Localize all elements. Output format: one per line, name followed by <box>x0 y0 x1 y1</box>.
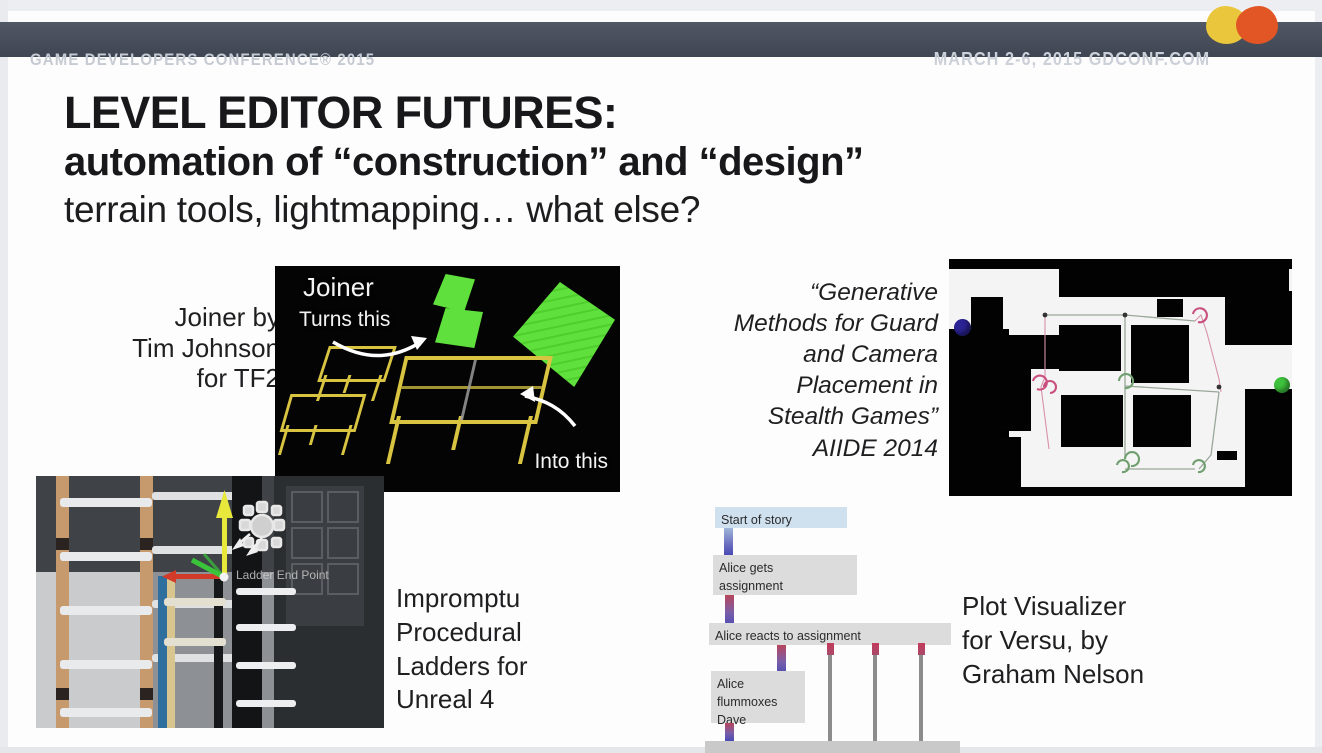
conference-name-label: GAME DEVELOPERS CONFERENCE® 2015 <box>30 50 375 70</box>
ladder-end-point-label: Ladder End Point <box>236 568 329 582</box>
player-start-dot <box>954 319 971 336</box>
caption-plot-visualizer: Plot Visualizer for Versu, by Graham Nel… <box>962 590 1242 691</box>
joiner-into-this-label: Into this <box>534 450 608 474</box>
plot-baseline <box>705 741 960 753</box>
logo-orange-blob-icon <box>1236 6 1278 44</box>
plot-node-alice-reacts: Alice reacts to assignment <box>709 623 951 645</box>
plot-node-start: Start of story <box>715 507 847 528</box>
stealth-map-screenshot <box>949 259 1292 496</box>
joiner-image-title: Joiner <box>303 272 374 303</box>
plot-thread-1 <box>828 645 832 741</box>
ladder-viewport-render <box>36 476 384 728</box>
page-title: LEVEL EDITOR FUTURES: <box>64 88 1244 138</box>
plot-connector-4 <box>725 723 734 741</box>
joiner-turns-this-label: Turns this <box>299 308 390 332</box>
caption-impromptu-ladders: Impromptu Procedural Ladders for Unreal … <box>396 582 636 717</box>
goal-dot <box>1274 377 1290 393</box>
gdc-logo <box>1204 2 1284 44</box>
unreal-ladders-screenshot: Ladder End Point <box>36 476 384 728</box>
plot-thread-cap-3 <box>918 643 925 655</box>
caption-joiner: Joiner by Tim Johnson for TF2 <box>40 302 280 394</box>
slide-bottom-edge <box>0 747 1322 753</box>
plot-thread-cap-2 <box>872 643 879 655</box>
gdc-header-bar: GAME DEVELOPERS CONFERENCE® 2015 MARCH 2… <box>0 22 1322 57</box>
plot-connector-1 <box>724 528 733 555</box>
slide-right-edge <box>1315 0 1322 753</box>
plot-thread-3 <box>919 645 923 741</box>
page-subtitle: automation of “construction” and “design… <box>64 138 1244 187</box>
conference-date-url-label: MARCH 2-6, 2015 GDCONF.COM <box>933 49 1210 70</box>
slide-left-edge <box>0 0 8 753</box>
slide-canvas: GAME DEVELOPERS CONFERENCE® 2015 MARCH 2… <box>0 0 1322 753</box>
plot-node-alice-flummoxes: Alice flummoxes Dave <box>711 671 805 723</box>
patrol-routes <box>949 259 1292 496</box>
plot-thread-2 <box>873 645 877 741</box>
plot-node-alice-assignment: Alice gets assignment <box>713 555 857 595</box>
slide-top-edge <box>0 0 1322 11</box>
plot-thread-cap-1 <box>827 643 834 655</box>
joiner-screenshot: Joiner Turns this Into this <box>275 266 620 492</box>
caption-generative-methods: “Generative Methods for Guard and Camera… <box>660 277 938 464</box>
slide-title-block: LEVEL EDITOR FUTURES: automation of “con… <box>64 88 1244 233</box>
page-tagline: terrain tools, lightmapping… what else? <box>64 187 1244 233</box>
plot-visualizer-screenshot: Start of story Alice gets assignment Ali… <box>705 503 960 753</box>
